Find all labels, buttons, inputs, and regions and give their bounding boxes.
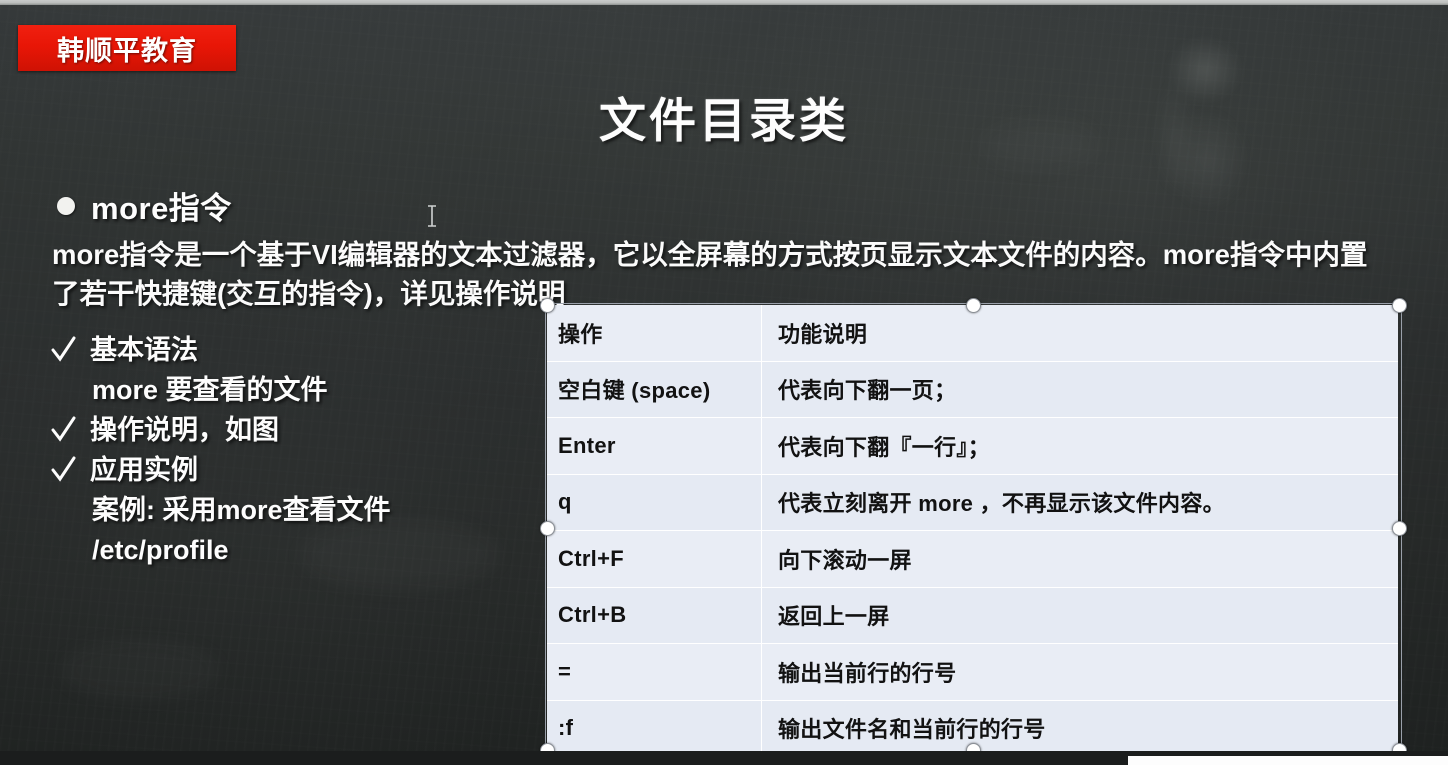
table-row: Enter 代表向下翻『一行』； (547, 418, 1398, 475)
list-item-label: 基本语法 (90, 330, 198, 370)
row-desc: 向下滚动一屏 (762, 531, 1399, 588)
checklist: 基本语法 more 要查看的文件 操作说明，如图 应用实例 案例: 采用more… (50, 330, 530, 570)
list-item-sub: 案例: 采用more查看文件 (92, 490, 530, 530)
top-edge-strip (0, 0, 1448, 5)
table-row: 空白键 (space) 代表向下翻一页； (547, 361, 1398, 418)
resize-handle-middle-left[interactable] (540, 521, 555, 536)
content-block: more指令 more指令是一个基于VI编辑器的文本过滤器，它以全屏幕的方式按页… (52, 183, 1382, 313)
check-icon (50, 335, 76, 365)
row-key: q (547, 474, 762, 531)
ibeam-text-cursor-icon (426, 204, 438, 233)
row-key: Ctrl+F (547, 531, 762, 588)
list-item-sub: more 要查看的文件 (92, 370, 530, 410)
resize-handle-top-left[interactable] (540, 298, 555, 313)
row-key: Ctrl+B (547, 587, 762, 644)
list-item: 应用实例 (50, 450, 530, 490)
resize-handle-middle-right[interactable] (1392, 521, 1407, 536)
check-icon (50, 455, 76, 485)
check-icon (50, 415, 76, 445)
list-item: 基本语法 (50, 330, 530, 370)
list-item-label: 应用实例 (90, 450, 198, 490)
table-row: Ctrl+F 向下滚动一屏 (547, 531, 1398, 588)
list-item-sub: /etc/profile (92, 530, 530, 570)
resize-handle-top-right[interactable] (1392, 298, 1407, 313)
table-row: q 代表立刻离开 more ，不再显示该文件内容。 (547, 474, 1398, 531)
section-heading-label: more指令 (91, 183, 232, 228)
row-desc: 输出文件名和当前行的行号 (762, 700, 1399, 756)
row-key: 空白键 (space) (547, 361, 762, 418)
table-row: Ctrl+B 返回上一屏 (547, 587, 1398, 644)
shortcut-table-object[interactable]: 操作 功能说明 空白键 (space) 代表向下翻一页； Enter 代表向下翻… (547, 305, 1398, 749)
section-paragraph: more指令是一个基于VI编辑器的文本过滤器，它以全屏幕的方式按页显示文本文件的… (52, 235, 1372, 313)
table-body: 操作 功能说明 空白键 (space) 代表向下翻一页； Enter 代表向下翻… (547, 305, 1398, 756)
row-key: :f (547, 700, 762, 756)
row-desc: 返回上一屏 (762, 587, 1399, 644)
row-key: Enter (547, 418, 762, 475)
resize-handle-top-center[interactable] (966, 298, 981, 313)
row-desc: 输出当前行的行号 (762, 644, 1399, 701)
column-header-description: 功能说明 (762, 305, 1399, 361)
filled-circle-bullet-icon (57, 197, 75, 215)
column-header-operation: 操作 (547, 305, 762, 361)
row-desc: 代表向下翻一页； (762, 361, 1399, 418)
brand-badge: 韩顺平教育 (18, 25, 236, 71)
list-item-label: 操作说明，如图 (90, 410, 279, 450)
bottom-white-panel (1128, 756, 1448, 765)
section-heading: more指令 (52, 183, 1382, 228)
page-title: 文件目录类 (0, 82, 1448, 151)
row-desc: 代表立刻离开 more ，不再显示该文件内容。 (762, 474, 1399, 531)
shortcut-table[interactable]: 操作 功能说明 空白键 (space) 代表向下翻一页； Enter 代表向下翻… (547, 305, 1398, 756)
brand-label: 韩顺平教育 (57, 29, 197, 68)
list-item: 操作说明，如图 (50, 410, 530, 450)
table-header-row: 操作 功能说明 (547, 305, 1398, 361)
row-desc: 代表向下翻『一行』； (762, 418, 1399, 475)
table-row: = 输出当前行的行号 (547, 644, 1398, 701)
row-key: = (547, 644, 762, 701)
presentation-slide: 韩顺平教育 文件目录类 more指令 more指令是一个基于VI编辑器的文本过滤… (0, 0, 1448, 765)
